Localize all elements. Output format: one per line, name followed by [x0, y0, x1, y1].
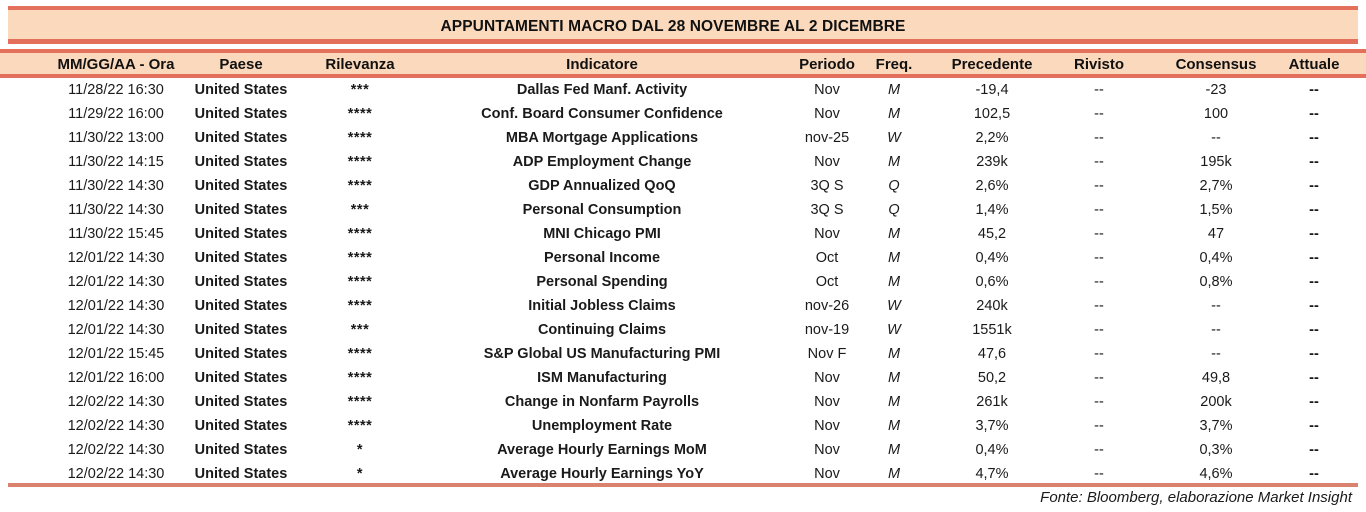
cell-revised: -- [1044, 440, 1154, 460]
cell-actual: -- [1262, 368, 1366, 388]
cell-freq: M [870, 344, 918, 364]
cell-relevance: *** [300, 200, 420, 220]
cell-actual: -- [1262, 128, 1366, 148]
cell-relevance: **** [300, 392, 420, 412]
table-row[interactable]: 12/02/22 14:30United States*Average Hour… [0, 438, 1366, 462]
cell-country: United States [160, 296, 322, 316]
cell-freq: M [870, 248, 918, 268]
column-header-freq[interactable]: Freq. [870, 56, 918, 73]
cell-freq: Q [870, 176, 918, 196]
cell-freq: M [870, 416, 918, 436]
cell-freq: W [870, 320, 918, 340]
cell-relevance: **** [300, 224, 420, 244]
table-row[interactable]: 12/01/22 15:45United States****S&P Globa… [0, 342, 1366, 366]
cell-indicator: Personal Income [420, 248, 784, 268]
cell-actual: -- [1262, 416, 1366, 436]
cell-revised: -- [1044, 176, 1154, 196]
cell-actual: -- [1262, 272, 1366, 292]
cell-indicator: GDP Annualized QoQ [420, 176, 784, 196]
cell-freq: M [870, 440, 918, 460]
cell-indicator: Average Hourly Earnings MoM [420, 440, 784, 460]
cell-country: United States [160, 368, 322, 388]
cell-freq: M [870, 80, 918, 100]
cell-revised: -- [1044, 272, 1154, 292]
cell-relevance: **** [300, 344, 420, 364]
column-header-revised[interactable]: Rivisto [1044, 56, 1154, 73]
cell-relevance: **** [300, 368, 420, 388]
cell-indicator: Continuing Claims [420, 320, 784, 340]
table-header-row: MM/GG/AA - Ora Paese Rilevanza Indicator… [0, 49, 1366, 78]
cell-freq: M [870, 224, 918, 244]
cell-period: Nov [786, 152, 868, 172]
cell-revised: -- [1044, 80, 1154, 100]
cell-period: Nov F [786, 344, 868, 364]
cell-country: United States [160, 440, 322, 460]
table-row[interactable]: 11/30/22 13:00United States****MBA Mortg… [0, 126, 1366, 150]
cell-indicator: Dallas Fed Manf. Activity [420, 80, 784, 100]
cell-actual: -- [1262, 344, 1366, 364]
cell-freq: M [870, 368, 918, 388]
cell-revised: -- [1044, 344, 1154, 364]
cell-revised: -- [1044, 416, 1154, 436]
cell-freq: M [870, 272, 918, 292]
table-row[interactable]: 12/02/22 14:30United States****Unemploym… [0, 414, 1366, 438]
table-row[interactable]: 11/30/22 14:30United States***Personal C… [0, 198, 1366, 222]
cell-freq: M [870, 392, 918, 412]
table-row[interactable]: 12/01/22 14:30United States***Continuing… [0, 318, 1366, 342]
cell-indicator: MNI Chicago PMI [420, 224, 784, 244]
page-title: APPUNTAMENTI MACRO DAL 28 NOVEMBRE AL 2 … [8, 18, 1338, 36]
cell-revised: -- [1044, 392, 1154, 412]
cell-country: United States [160, 248, 322, 268]
table-row[interactable]: 12/01/22 14:30United States****Initial J… [0, 294, 1366, 318]
column-header-country[interactable]: Paese [160, 56, 322, 73]
cell-period: 3Q S [786, 176, 868, 196]
cell-indicator: Personal Spending [420, 272, 784, 292]
cell-period: Nov [786, 368, 868, 388]
cell-revised: -- [1044, 320, 1154, 340]
source-note: Fonte: Bloomberg, elaborazione Market In… [1040, 489, 1352, 506]
cell-actual: -- [1262, 392, 1366, 412]
cell-revised: -- [1044, 128, 1154, 148]
cell-country: United States [160, 464, 322, 484]
cell-revised: -- [1044, 296, 1154, 316]
cell-country: United States [160, 200, 322, 220]
cell-actual: -- [1262, 224, 1366, 244]
cell-revised: -- [1044, 104, 1154, 124]
cell-country: United States [160, 272, 322, 292]
table-row[interactable]: 11/30/22 15:45United States****MNI Chica… [0, 222, 1366, 246]
cell-relevance: **** [300, 248, 420, 268]
table-row[interactable]: 12/02/22 14:30United States****Change in… [0, 390, 1366, 414]
cell-country: United States [160, 128, 322, 148]
cell-period: Nov [786, 464, 868, 484]
cell-relevance: **** [300, 416, 420, 436]
cell-relevance: *** [300, 80, 420, 100]
cell-relevance: **** [300, 296, 420, 316]
table-row[interactable]: 11/29/22 16:00United States****Conf. Boa… [0, 102, 1366, 126]
cell-period: nov-25 [786, 128, 868, 148]
cell-period: Nov [786, 392, 868, 412]
cell-actual: -- [1262, 152, 1366, 172]
cell-actual: -- [1262, 464, 1366, 484]
cell-revised: -- [1044, 464, 1154, 484]
cell-country: United States [160, 104, 322, 124]
cell-revised: -- [1044, 152, 1154, 172]
cell-revised: -- [1044, 200, 1154, 220]
cell-actual: -- [1262, 296, 1366, 316]
cell-country: United States [160, 392, 322, 412]
column-header-actual[interactable]: Attuale [1262, 56, 1366, 73]
cell-revised: -- [1044, 224, 1154, 244]
cell-period: Nov [786, 440, 868, 460]
cell-relevance: **** [300, 272, 420, 292]
cell-indicator: ADP Employment Change [420, 152, 784, 172]
cell-freq: Q [870, 200, 918, 220]
column-header-period[interactable]: Periodo [786, 56, 868, 73]
cell-actual: -- [1262, 104, 1366, 124]
cell-period: nov-26 [786, 296, 868, 316]
cell-country: United States [160, 344, 322, 364]
cell-indicator: Change in Nonfarm Payrolls [420, 392, 784, 412]
cell-relevance: *** [300, 320, 420, 340]
cell-freq: W [870, 296, 918, 316]
cell-indicator: ISM Manufacturing [420, 368, 784, 388]
cell-period: Oct [786, 248, 868, 268]
cell-indicator: Personal Consumption [420, 200, 784, 220]
table-row[interactable]: 12/01/22 14:30United States****Personal … [0, 246, 1366, 270]
cell-period: 3Q S [786, 200, 868, 220]
cell-country: United States [160, 80, 322, 100]
cell-period: Nov [786, 104, 868, 124]
cell-period: Nov [786, 416, 868, 436]
cell-country: United States [160, 224, 322, 244]
cell-indicator: Average Hourly Earnings YoY [420, 464, 784, 484]
cell-country: United States [160, 176, 322, 196]
cell-indicator: MBA Mortgage Applications [420, 128, 784, 148]
column-header-relevance[interactable]: Rilevanza [300, 56, 420, 73]
cell-actual: -- [1262, 440, 1366, 460]
cell-relevance: **** [300, 104, 420, 124]
cell-revised: -- [1044, 368, 1154, 388]
cell-relevance: * [300, 440, 420, 460]
cell-period: Oct [786, 272, 868, 292]
cell-relevance: **** [300, 128, 420, 148]
cell-relevance: **** [300, 176, 420, 196]
cell-actual: -- [1262, 80, 1366, 100]
table-row[interactable]: 11/30/22 14:15United States****ADP Emplo… [0, 150, 1366, 174]
table-row[interactable]: 12/01/22 14:30United States****Personal … [0, 270, 1366, 294]
cell-country: United States [160, 320, 322, 340]
column-header-indicator[interactable]: Indicatore [420, 56, 784, 73]
cell-actual: -- [1262, 200, 1366, 220]
cell-actual: -- [1262, 248, 1366, 268]
cell-period: Nov [786, 80, 868, 100]
cell-actual: -- [1262, 176, 1366, 196]
cell-indicator: S&P Global US Manufacturing PMI [420, 344, 784, 364]
macro-calendar-sheet: APPUNTAMENTI MACRO DAL 28 NOVEMBRE AL 2 … [0, 0, 1366, 512]
title-banner: APPUNTAMENTI MACRO DAL 28 NOVEMBRE AL 2 … [8, 6, 1358, 44]
table-row[interactable]: 11/30/22 14:30United States****GDP Annua… [0, 174, 1366, 198]
cell-relevance: **** [300, 152, 420, 172]
table-body: 11/28/22 16:30United States***Dallas Fed… [0, 78, 1366, 485]
cell-indicator: Initial Jobless Claims [420, 296, 784, 316]
cell-country: United States [160, 152, 322, 172]
cell-indicator: Unemployment Rate [420, 416, 784, 436]
cell-country: United States [160, 416, 322, 436]
cell-freq: M [870, 464, 918, 484]
table-row[interactable]: 12/01/22 16:00United States****ISM Manuf… [0, 366, 1366, 390]
cell-freq: W [870, 128, 918, 148]
cell-indicator: Conf. Board Consumer Confidence [420, 104, 784, 124]
cell-freq: M [870, 104, 918, 124]
cell-revised: -- [1044, 248, 1154, 268]
table-row[interactable]: 11/28/22 16:30United States***Dallas Fed… [0, 78, 1366, 102]
cell-freq: M [870, 152, 918, 172]
table-bottom-rule [8, 483, 1358, 487]
cell-relevance: * [300, 464, 420, 484]
cell-period: nov-19 [786, 320, 868, 340]
cell-period: Nov [786, 224, 868, 244]
cell-actual: -- [1262, 320, 1366, 340]
